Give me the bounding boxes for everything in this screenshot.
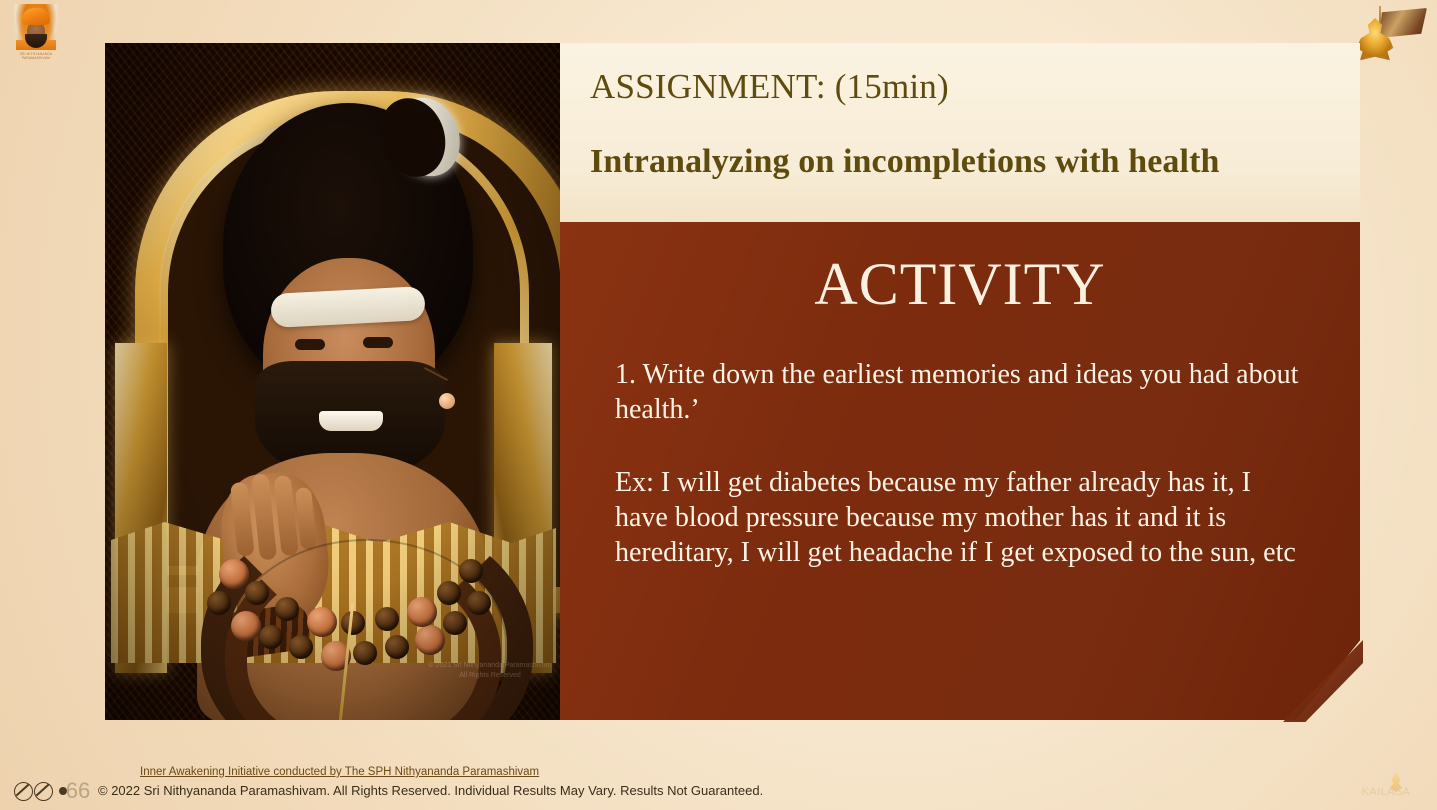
footer-copyright: © 2022 Sri Nithyananda Paramashivam. All… <box>98 783 763 798</box>
no-copy-icon <box>14 782 33 801</box>
kailasa-watermark: KAILASA <box>1343 772 1429 806</box>
guru-photograph: © 2021 Sri Nithyananda Paramashivam All … <box>105 43 560 720</box>
activity-heading: ACTIVITY <box>560 250 1360 319</box>
assignment-title: ASSIGNMENT: (15min) <box>590 67 949 107</box>
assignment-subtitle: Intranalyzing on incompletions with heal… <box>590 143 1220 181</box>
restriction-icons <box>14 782 60 802</box>
flag-banner-icon <box>1379 8 1427 38</box>
turban-shape <box>22 8 50 25</box>
kailasa-watermark-text: KAILASA <box>1343 786 1429 798</box>
brand-logo-caption: SRI NITHYANANDA PARAMASHIVAM <box>8 52 64 61</box>
footer-initiative-link[interactable]: Inner Awakening Initiative conducted by … <box>140 766 539 778</box>
activity-item-1: 1. Write down the earliest memories and … <box>615 357 1305 427</box>
guru-portrait-icon <box>14 4 58 50</box>
header-band: ASSIGNMENT: (15min) Intranalyzing on inc… <box>560 43 1360 223</box>
brand-logo-top-left: SRI NITHYANANDA PARAMASHIVAM <box>8 2 64 64</box>
photo-vignette <box>105 43 560 720</box>
activity-example: Ex: I will get diabetes because my fathe… <box>615 465 1305 570</box>
slide-canvas: SRI NITHYANANDA PARAMASHIVAM © 2021 Sri … <box>0 0 1437 810</box>
slide-number: 66 <box>58 778 98 804</box>
no-share-icon <box>34 782 53 801</box>
